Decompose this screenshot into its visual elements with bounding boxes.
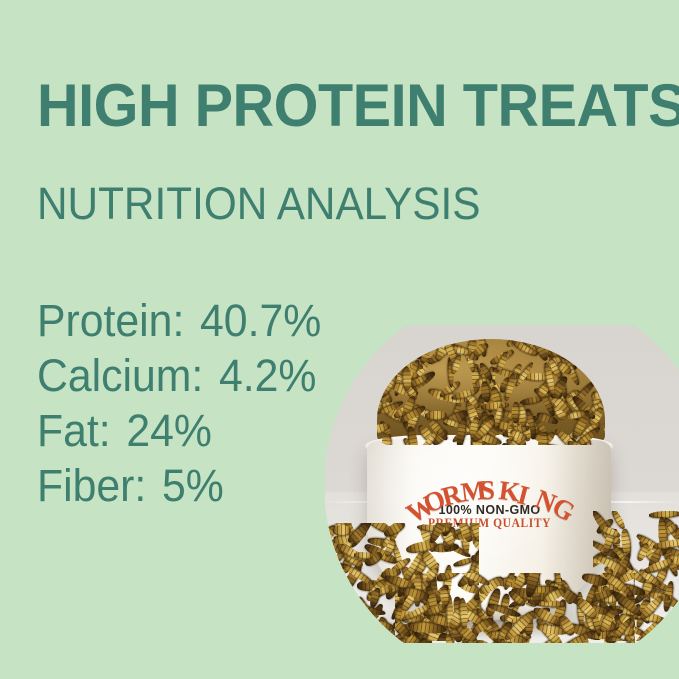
nutrition-list: Protein: 40.7% Calcium: 4.2% Fat: 24% Fi… [37, 293, 337, 513]
page-title: HIGH PROTEIN TREATS [37, 76, 642, 136]
larva [325, 565, 332, 580]
larva [325, 564, 341, 595]
larva [325, 567, 334, 591]
larva [356, 620, 371, 641]
larva [354, 626, 381, 641]
product-photo: WORMSKING 100% NON-GMO PREMIUM QUALITY [325, 325, 679, 643]
larva [381, 434, 392, 445]
nutrition-label: Protein: [37, 295, 184, 346]
product-photo-circle-clip: WORMSKING 100% NON-GMO PREMIUM QUALITY [325, 325, 679, 643]
larva [650, 640, 673, 641]
larva [337, 611, 368, 637]
list-item: Fat: 24% [37, 403, 322, 458]
larva [325, 610, 341, 628]
larva [331, 615, 368, 634]
larva [325, 601, 351, 627]
nutrition-label: Calcium: [37, 350, 203, 401]
brand-letter: S [480, 477, 495, 504]
larva [342, 621, 352, 641]
list-item: Calcium: 4.2% [37, 348, 322, 403]
larva [669, 639, 679, 641]
larva [511, 403, 519, 424]
larva [325, 591, 332, 601]
poster-canvas: HIGH PROTEIN TREATS NUTRITION ANALYSIS P… [0, 0, 679, 679]
larva [325, 628, 327, 641]
nutrition-label: Fiber: [37, 460, 146, 511]
larva [326, 625, 358, 641]
larva [332, 525, 350, 536]
larva [325, 566, 335, 598]
larva [667, 638, 679, 641]
larva [424, 410, 446, 420]
larva [325, 564, 345, 590]
larva [538, 431, 549, 445]
nutrition-value: 5% [162, 460, 224, 511]
nutrition-value: 40.7% [200, 295, 321, 346]
larva [356, 638, 387, 641]
list-item: Protein: 40.7% [37, 293, 322, 348]
larva [325, 634, 338, 641]
nutrition-value: 24% [126, 405, 212, 456]
larva [325, 565, 342, 581]
larva [325, 625, 349, 636]
larva [325, 579, 336, 599]
larva [325, 592, 346, 619]
larva [590, 388, 605, 401]
list-item: Fiber: 5% [37, 458, 322, 513]
larva [325, 616, 338, 638]
larva [331, 612, 358, 626]
larva [660, 616, 679, 640]
larva [382, 355, 390, 373]
brand-wordmark: WORMSKING [387, 467, 592, 501]
nutrition-label: Fat: [37, 405, 111, 456]
larva [325, 632, 330, 640]
nutrition-value: 4.2% [219, 350, 316, 401]
larvae-heap-in-bowl [377, 339, 605, 445]
larva [325, 555, 331, 574]
larva [325, 589, 330, 612]
larva [649, 511, 679, 519]
page-subtitle: NUTRITION ANALYSIS [37, 181, 480, 226]
